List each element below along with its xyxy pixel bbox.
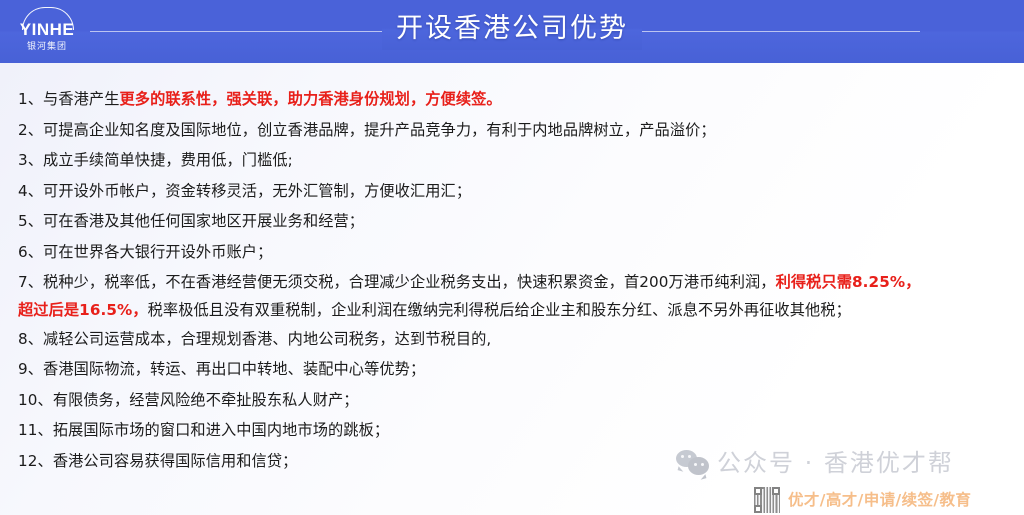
list-item-text: 税率极低且没有双重税制，企业利润在缴纳完利得税后给企业主和股东分红、派息不另外再…: [148, 301, 851, 319]
list-item: 5、可在香港及其他任何国家地区开展业务和经营；: [18, 206, 1008, 237]
list-item: 11、拓展国际市场的窗口和进入中国内地市场的跳板；: [18, 415, 1008, 446]
list-item-text: 8、减轻公司运营成本，合理规划香港、内地公司税务，达到节税目的,: [18, 330, 491, 348]
list-item: 3、成立手续简单快捷，费用低，门槛低;: [18, 145, 1008, 176]
slide-root: 开设香港公司优势 YINHE 银河集团 1、与香港产生更多的联系性，强关联，助力…: [0, 0, 1024, 515]
list-item-text: 4、可开设外币帐户，资金转移灵活，无外汇管制，方便收汇用汇；: [18, 182, 471, 200]
list-item: 7、税种少，税率低，不在香港经营便无须交税，合理减少企业税务支出，快速积累资金，…: [18, 268, 1008, 296]
page-title: 开设香港公司优势: [0, 8, 1024, 50]
wechat-icon: [676, 449, 710, 477]
list-item: 8、减轻公司运营成本，合理规划香港、内地公司税务，达到节税目的,: [18, 324, 1008, 355]
company-logo: YINHE 银河集团: [8, 6, 86, 54]
list-item-highlight: 超过后是16.5%，: [18, 301, 148, 319]
logo-wordmark: YINHE: [8, 20, 86, 40]
watermark-account-text: 公众号 · 香港优才帮: [717, 448, 954, 478]
list-item-text: 10、有限债务，经营风险绝不牵扯股东私人财产；: [18, 391, 359, 409]
watermark-tags-row: 优才/高才/申请/续签/教育: [754, 487, 971, 513]
list-item-text: 12、香港公司容易获得国际信用和信贷；: [18, 452, 297, 470]
list-item: 1、与香港产生更多的联系性，强关联，助力香港身份规划，方便续签。: [18, 84, 1008, 115]
list-item: 10、有限债务，经营风险绝不牵扯股东私人财产；: [18, 385, 1008, 416]
list-item: 6、可在世界各大银行开设外币账户；: [18, 237, 1008, 268]
watermark-tags-text: 优才/高才/申请/续签/教育: [788, 489, 971, 511]
list-item-text: 6、可在世界各大银行开设外币账户；: [18, 243, 272, 261]
list-item: 9、香港国际物流，转运、再出口中转地、装配中心等优势；: [18, 354, 1008, 385]
list-item-highlight: 利得税只需8.25%，: [776, 273, 921, 291]
list-item-highlight: 更多的联系性，强关联，助力香港身份规划，方便续签。: [120, 90, 502, 108]
watermark-account-row: 公众号 · 香港优才帮: [676, 448, 954, 478]
watermark: 公众号 · 香港优才帮 优才/高才/申请/续签/教育: [676, 448, 1024, 515]
list-item-text: 2、可提高企业知名度及国际地位，创立香港品牌，提升产品竞争力，有利于内地品牌树立…: [18, 121, 716, 139]
qr-code-icon: [754, 487, 780, 513]
list-item-text: 11、拓展国际市场的窗口和进入中国内地市场的跳板；: [18, 421, 389, 439]
list-item-text: 5、可在香港及其他任何国家地区开展业务和经营；: [18, 212, 364, 230]
logo-subtitle: 银河集团: [8, 39, 86, 52]
list-item-text: 9、香港国际物流，转运、再出口中转地、装配中心等优势；: [18, 360, 425, 378]
list-item: 2、可提高企业知名度及国际地位，创立香港品牌，提升产品竞争力，有利于内地品牌树立…: [18, 115, 1008, 146]
page-title-text: 开设香港公司优势: [382, 8, 642, 50]
list-item: 4、可开设外币帐户，资金转移灵活，无外汇管制，方便收汇用汇；: [18, 176, 1008, 207]
advantages-list: 1、与香港产生更多的联系性，强关联，助力香港身份规划，方便续签。 2、可提高企业…: [18, 84, 1008, 477]
slide-header-bar: 开设香港公司优势 YINHE 银河集团: [0, 0, 1024, 63]
list-item-continuation: 超过后是16.5%，税率极低且没有双重税制，企业利润在缴纳完利得税后给企业主和股…: [18, 296, 1008, 324]
list-item-text: 1、与香港产生: [18, 90, 120, 108]
list-item-text: 7、税种少，税率低，不在香港经营便无须交税，合理减少企业税务支出，快速积累资金，…: [18, 273, 776, 291]
list-item-text: 3、成立手续简单快捷，费用低，门槛低;: [18, 151, 293, 169]
